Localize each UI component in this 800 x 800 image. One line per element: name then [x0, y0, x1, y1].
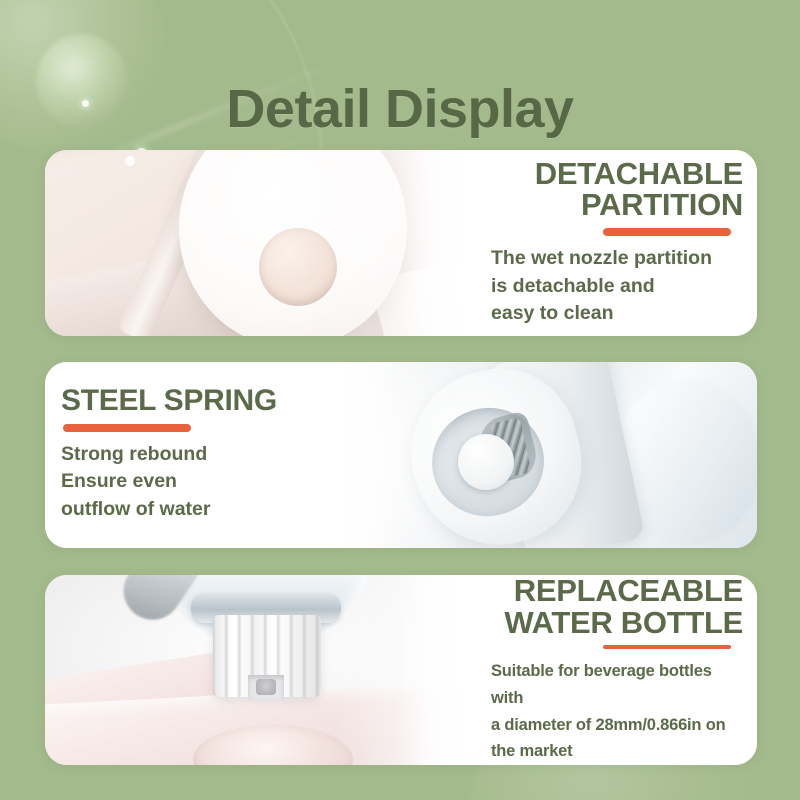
feature-body-line-3: the market: [491, 742, 572, 760]
detail-display-poster: Detail Display DETACHABLE PARTITION The …: [0, 0, 800, 800]
feature-text-steel-spring: STEEL SPRING Strong rebound Ensure even …: [45, 362, 320, 548]
feature-heading: REPLACEABLE WATER BOTTLE: [491, 575, 743, 638]
feature-card-replaceable-water-bottle: REPLACEABLE WATER BOTTLE Suitable for be…: [45, 575, 757, 765]
feature-body: Strong rebound Ensure even outflow of wa…: [61, 441, 306, 524]
accent-underline-bar: [603, 645, 731, 649]
feature-heading: DETACHABLE PARTITION: [491, 158, 743, 221]
feature-body-line-3: outflow of water: [61, 498, 211, 520]
product-photo-steel-spring: [320, 362, 757, 548]
feature-heading-line-1: DETACHABLE: [491, 158, 743, 190]
page-title: Detail Display: [0, 78, 800, 140]
feature-card-detachable-partition: DETACHABLE PARTITION The wet nozzle part…: [45, 150, 757, 336]
accent-underline-bar: [63, 424, 191, 432]
feature-body-line-1: Strong rebound: [61, 443, 207, 465]
highlight-dot-icon: [125, 156, 135, 166]
feature-card-steel-spring: STEEL SPRING Strong rebound Ensure even …: [45, 362, 757, 548]
outlet-nozzle-shape: [256, 679, 276, 695]
plunger-button-shape: [458, 434, 514, 490]
feature-text-detachable-partition: DETACHABLE PARTITION The wet nozzle part…: [475, 150, 757, 336]
feature-body-line-1: The wet nozzle partition: [491, 247, 712, 269]
feature-heading: STEEL SPRING: [61, 386, 306, 417]
photo-fade-overlay: [320, 362, 460, 548]
feature-body-line-2: is detachable and: [491, 275, 655, 297]
feature-heading-line-2: WATER BOTTLE: [491, 607, 743, 639]
product-photo-detachable-partition: [45, 150, 475, 336]
feature-text-replaceable-water-bottle: REPLACEABLE WATER BOTTLE Suitable for be…: [475, 575, 757, 765]
photo-fade-overlay: [335, 575, 475, 765]
feature-body-line-2: a diameter of 28mm/0.866in on: [491, 716, 725, 734]
feature-body-line-1: Suitable for beverage bottles with: [491, 662, 712, 707]
feature-body-line-2: Ensure even: [61, 470, 177, 492]
feature-heading-line-1: STEEL SPRING: [61, 386, 306, 417]
photo-fade-overlay: [325, 150, 475, 336]
feature-body: The wet nozzle partition is detachable a…: [491, 245, 743, 328]
accent-underline-bar: [603, 228, 731, 236]
feature-heading-line-1: REPLACEABLE: [491, 575, 743, 607]
feature-body: Suitable for beverage bottles with a dia…: [491, 658, 743, 765]
feature-heading-line-2: PARTITION: [491, 189, 743, 221]
product-photo-replaceable-water-bottle: [45, 575, 475, 765]
feature-body-line-3: easy to clean: [491, 302, 613, 324]
